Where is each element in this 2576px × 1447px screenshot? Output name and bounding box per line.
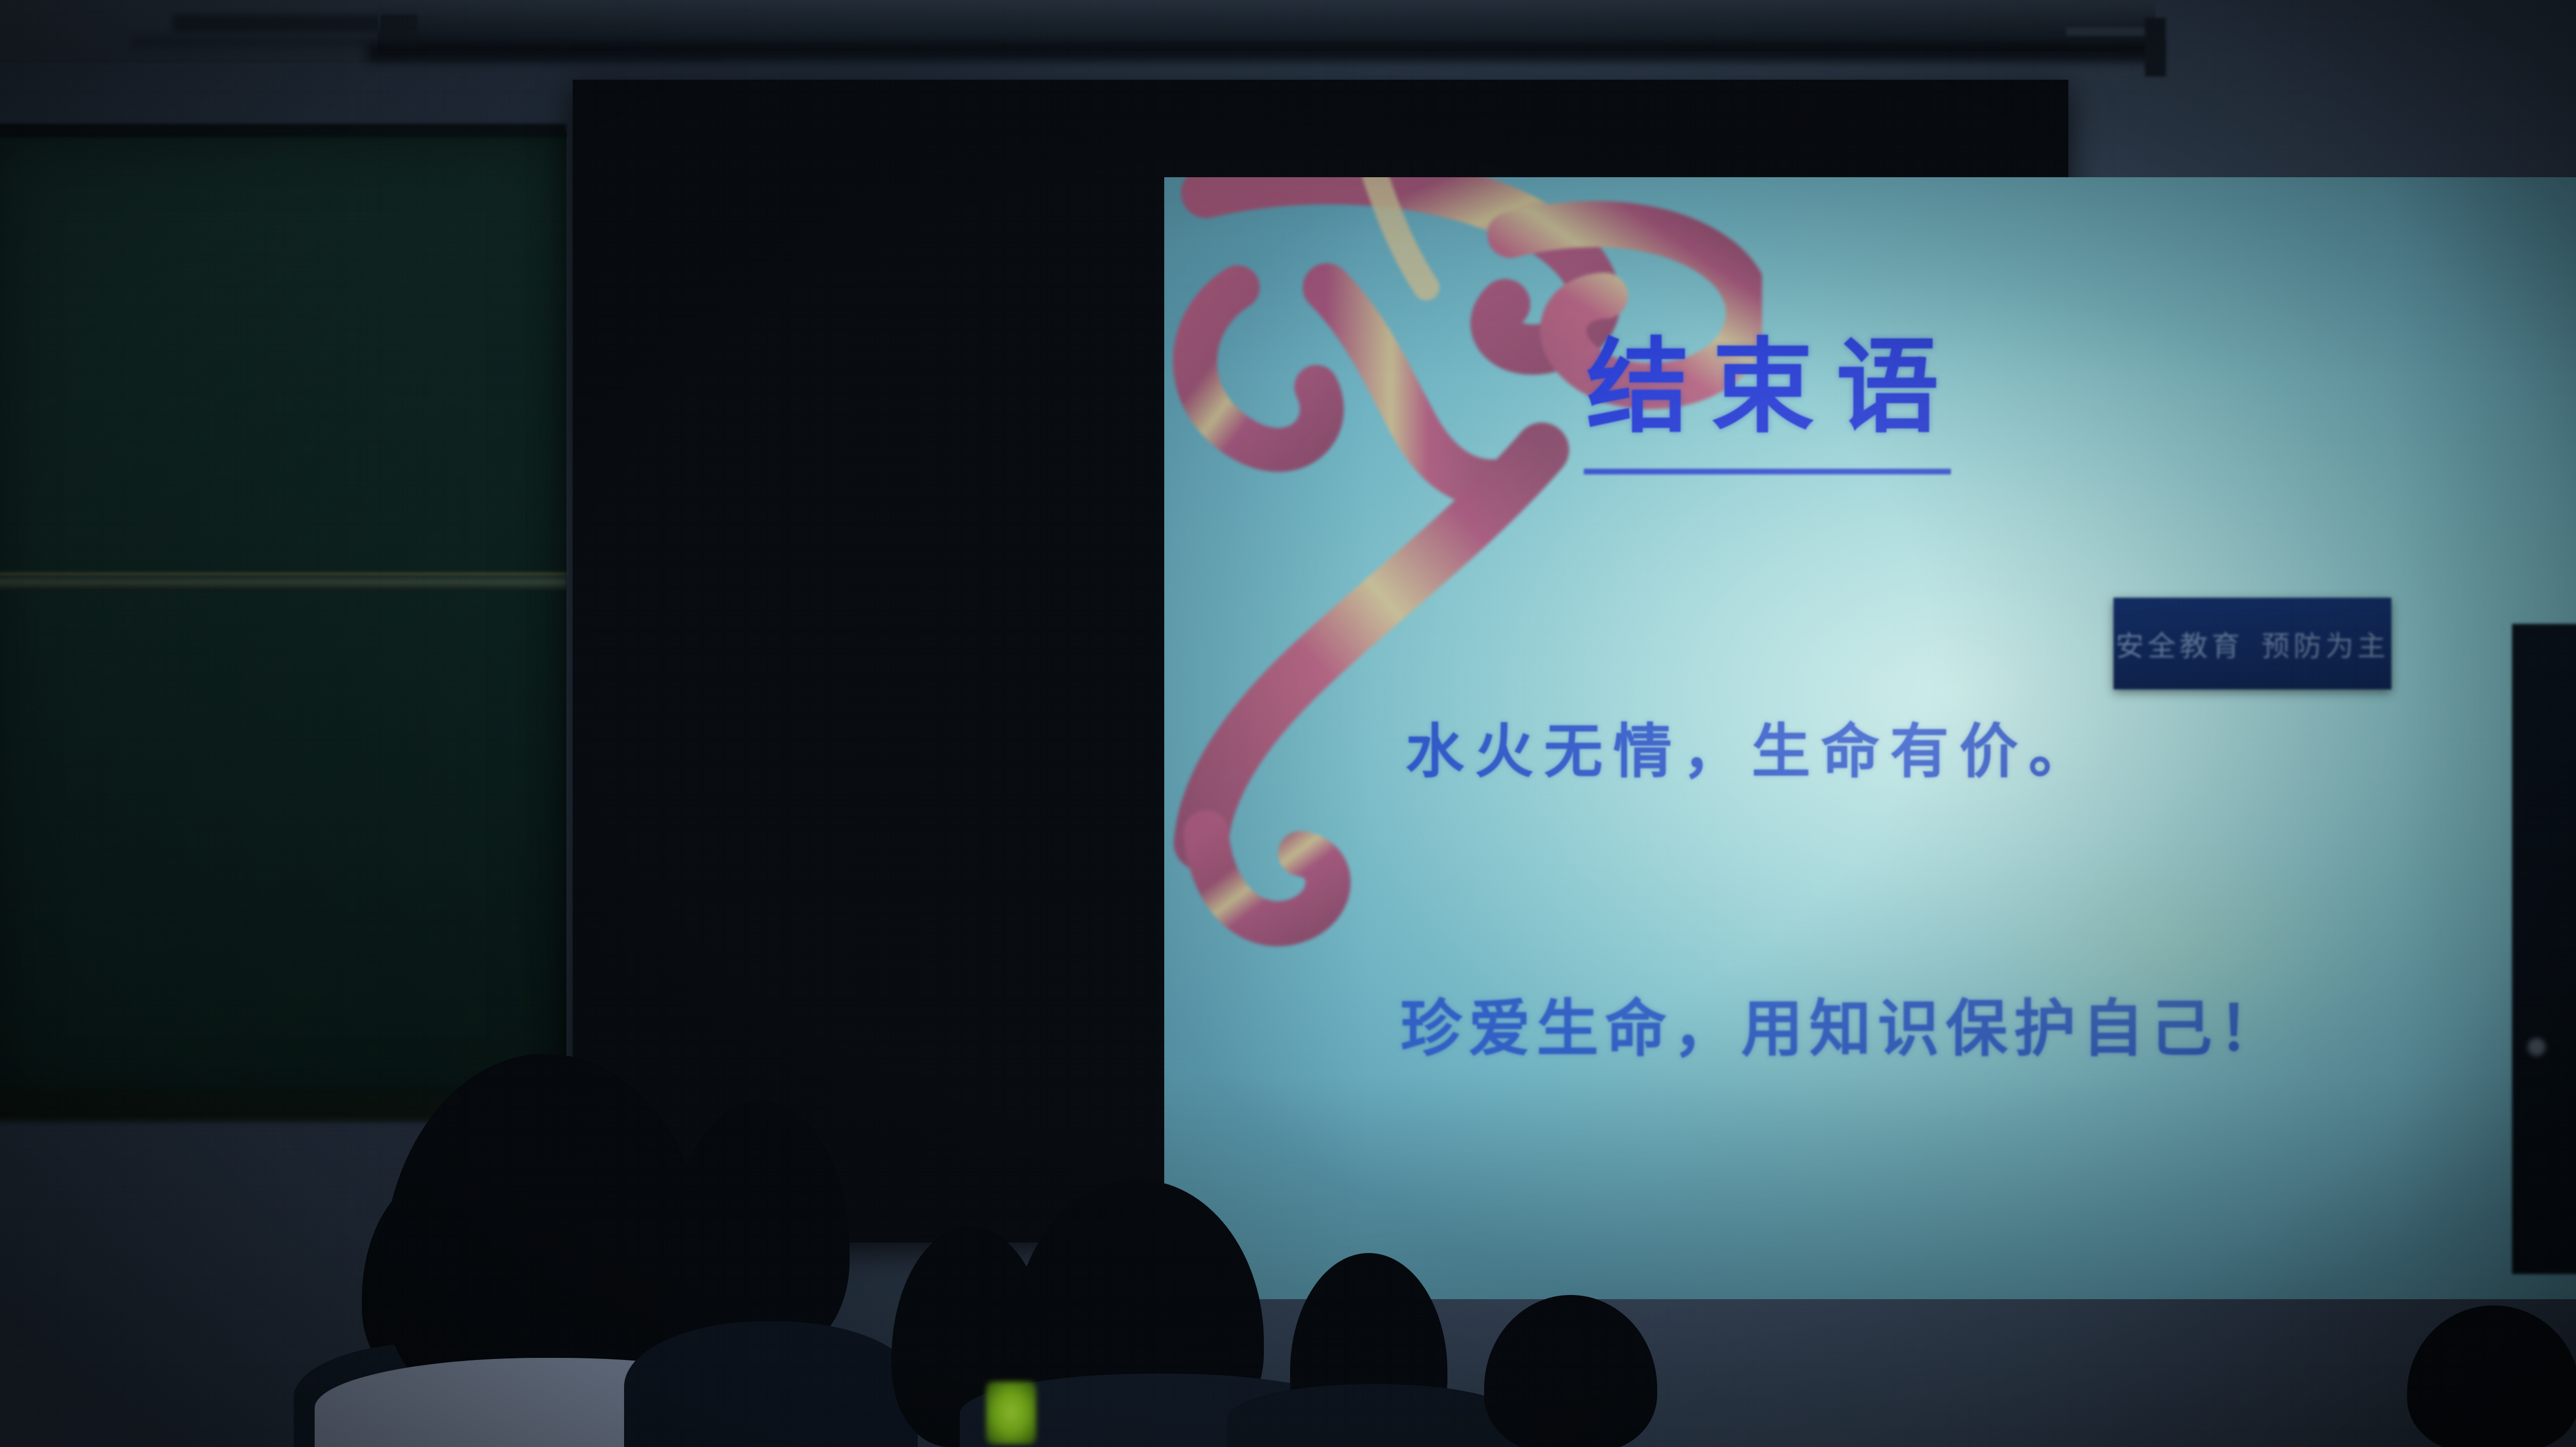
slide-body-line-1: 水火无情，生命有价。 xyxy=(1405,720,2098,784)
wall-sign-text-left: 安全教育 xyxy=(2116,623,2244,664)
valance-shadow xyxy=(367,43,2161,62)
wall-sign: 安全教育 预防为主 xyxy=(2113,598,2391,689)
light-switch-icon xyxy=(2528,1038,2546,1056)
projected-slide: 结束语 水火无情，生命有价。 珍爱生命，用知识保护自己！ xyxy=(1164,177,2576,1299)
slide-body-line-2: 珍爱生命，用知识保护自己！ xyxy=(1400,995,2287,1063)
doorway-panel xyxy=(2512,624,2576,1274)
slide-title: 结束语 xyxy=(1586,334,1961,441)
blackboard-top-frame xyxy=(0,124,566,137)
audience-shoulders xyxy=(1227,1384,1521,1447)
slide-title-underline xyxy=(1584,469,1951,474)
audience-shoulders xyxy=(624,1321,918,1447)
wall-sign-text-right: 预防为主 xyxy=(2261,623,2389,664)
classroom-photo-scene: 结束语 水火无情，生命有价。 珍爱生命，用知识保护自己！ 安全教育 预防为主 xyxy=(0,0,2576,1447)
ribbon-swirl-graphic xyxy=(1164,177,1762,1037)
blackboard xyxy=(0,131,566,1117)
projection-screen-frame: 结束语 水火无情，生命有价。 珍爱生命，用知识保护自己！ xyxy=(573,80,2068,1243)
blackboard-chalk-rail xyxy=(0,576,566,590)
screen-roller-bracket xyxy=(2145,18,2166,77)
phone-screen-glow xyxy=(986,1381,1036,1444)
